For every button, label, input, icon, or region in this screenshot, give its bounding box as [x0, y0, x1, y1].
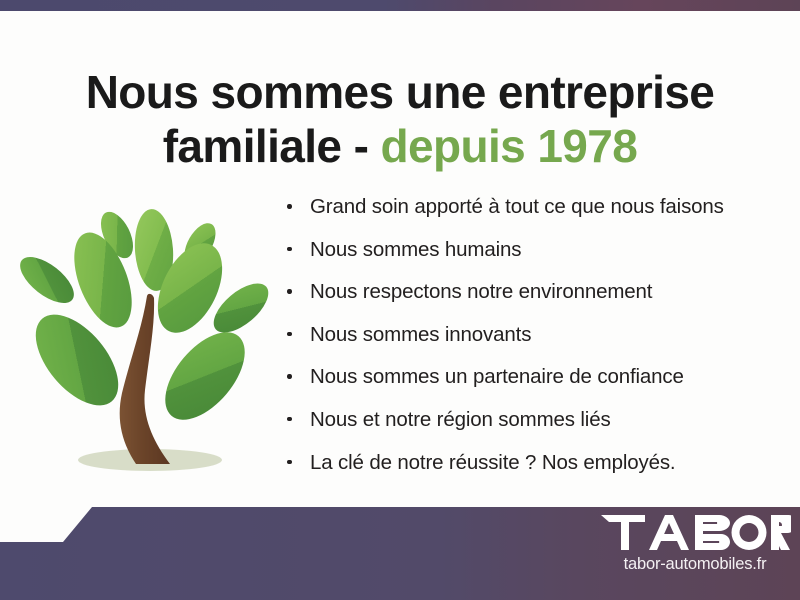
bullet-dot-icon	[287, 247, 292, 252]
title-line-2-accent: depuis 1978	[381, 120, 638, 172]
list-item: La clé de notre réussite ? Nos employés.	[284, 448, 754, 491]
list-item-label: La clé de notre réussite ? Nos employés.	[310, 451, 675, 474]
slide-canvas: Nous sommes une entreprise familiale - d…	[0, 0, 800, 600]
bullet-dot-icon	[287, 332, 292, 337]
tabor-wordmark-icon	[599, 512, 791, 552]
bullet-dot-icon	[287, 289, 292, 294]
value-list: Grand soin apporté à tout ce que nous fa…	[284, 192, 754, 490]
list-item: Grand soin apporté à tout ce que nous fa…	[284, 192, 754, 235]
list-item: Nous et notre région sommes liés	[284, 405, 754, 448]
title-line-2-plain: familiale -	[163, 120, 381, 172]
brand-logo[interactable]: tabor-automobiles.fr	[596, 512, 794, 574]
list-item-label: Nous respectons notre environnement	[310, 280, 652, 303]
list-item: Nous sommes un partenaire de confiance	[284, 362, 754, 405]
list-item-label: Nous sommes un partenaire de confiance	[310, 365, 684, 388]
list-item-label: Grand soin apporté à tout ce que nous fa…	[310, 195, 724, 218]
page-title: Nous sommes une entreprise familiale - d…	[0, 65, 800, 174]
list-item-label: Nous sommes innovants	[310, 323, 531, 346]
bullet-dot-icon	[287, 417, 292, 422]
bullet-dot-icon	[287, 204, 292, 209]
logo-tagline: tabor-automobiles.fr	[596, 555, 794, 574]
tree-illustration	[18, 188, 283, 488]
list-item: Nous sommes innovants	[284, 320, 754, 363]
top-accent-bar	[0, 0, 800, 11]
title-line-1: Nous sommes une entreprise	[0, 65, 800, 119]
list-item: Nous sommes humains	[284, 235, 754, 278]
tree-leaf	[18, 248, 81, 311]
list-item-label: Nous et notre région sommes liés	[310, 408, 611, 431]
list-item-label: Nous sommes humains	[310, 238, 521, 261]
title-line-2: familiale - depuis 1978	[0, 119, 800, 173]
bullet-dot-icon	[287, 374, 292, 379]
tree-leaf	[150, 318, 260, 434]
list-item: Nous respectons notre environnement	[284, 277, 754, 320]
bullet-dot-icon	[287, 460, 292, 465]
